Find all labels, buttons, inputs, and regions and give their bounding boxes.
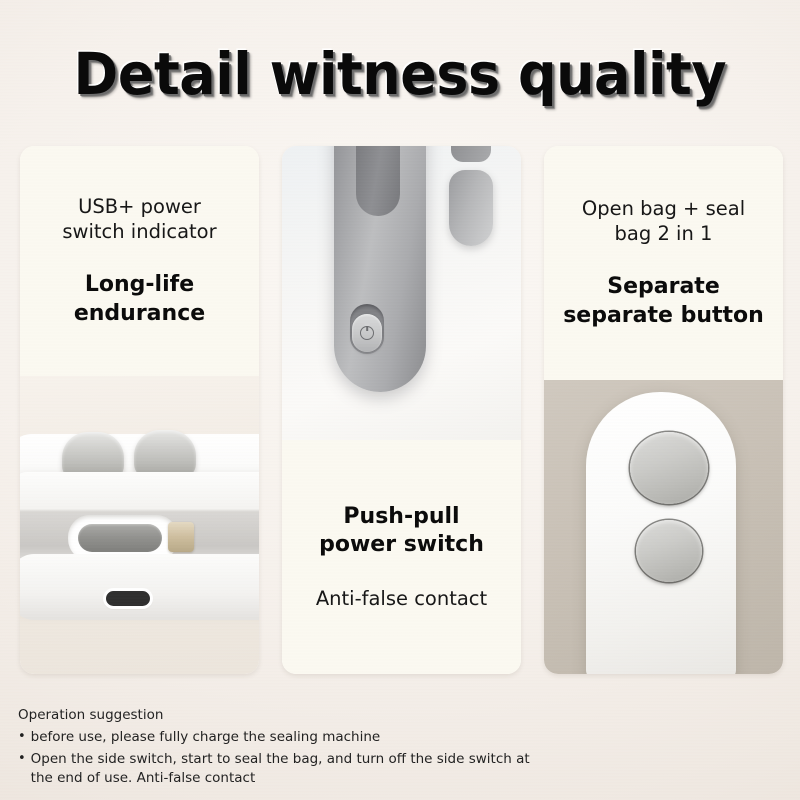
infographic-page: Detail witness quality USB+ power switch… — [0, 0, 800, 800]
sealing-strip — [78, 524, 162, 552]
caption-regular-line-2: switch indicator — [62, 219, 216, 245]
device-handle-groove — [356, 146, 400, 216]
device-side-cap-top — [451, 146, 491, 162]
round-button-bottom — [636, 520, 702, 582]
caption-regular-line-1: Open bag + seal — [582, 196, 745, 222]
operation-suggestion-item: • Open the side switch, start to seal th… — [18, 750, 538, 789]
product-photo-left — [20, 376, 259, 674]
usb-c-port-icon — [106, 591, 150, 606]
operation-suggestion-block: Operation suggestion • before use, pleas… — [18, 705, 538, 791]
feature-panel-left: USB+ power switch indicator Long-life en… — [20, 146, 259, 674]
operation-suggestion-text: Open the side switch, start to seal the … — [31, 750, 538, 789]
bullet-icon: • — [18, 750, 26, 789]
bullet-icon: • — [18, 728, 26, 748]
product-photo-right — [544, 380, 783, 674]
caption-bold-line-1: Separate — [607, 273, 720, 302]
power-switch-knob — [352, 314, 382, 352]
page-title: Detail witness quality — [74, 45, 726, 103]
operation-suggestion-title: Operation suggestion — [18, 705, 538, 725]
caption-bold-line-2: power switch — [319, 531, 484, 560]
feature-caption-middle: Push-pull power switch Anti-false contac… — [282, 440, 521, 674]
product-photo-middle — [282, 146, 521, 440]
caption-regular-line-1: USB+ power — [78, 194, 201, 220]
round-button-top — [630, 432, 708, 504]
caption-bold-line-1: Push-pull — [343, 503, 459, 532]
operation-suggestion-item: • before use, please fully charge the se… — [18, 728, 538, 748]
caption-regular-line-2: bag 2 in 1 — [615, 221, 713, 247]
caption-bold-line-1: Long-life — [85, 271, 194, 300]
feature-caption-right: Open bag + seal bag 2 in 1 Separate sepa… — [544, 146, 783, 380]
feature-panel-middle: Push-pull power switch Anti-false contac… — [282, 146, 521, 674]
feature-panel-right: Open bag + seal bag 2 in 1 Separate sepa… — [544, 146, 783, 674]
caption-regular-line-1: Anti-false contact — [316, 586, 487, 612]
sealer-lower-shell — [20, 554, 259, 620]
feature-caption-left: USB+ power switch indicator Long-life en… — [20, 146, 259, 376]
operation-suggestion-text: before use, please fully charge the seal… — [31, 728, 538, 748]
gold-contact-tab — [168, 522, 194, 552]
device-side-cap — [449, 170, 493, 246]
caption-bold-line-2: separate button — [563, 302, 764, 331]
power-icon — [360, 326, 374, 340]
caption-bold-line-2: endurance — [74, 300, 205, 329]
headline-container: Detail witness quality — [0, 34, 800, 114]
sealer-knob-right — [134, 430, 196, 478]
